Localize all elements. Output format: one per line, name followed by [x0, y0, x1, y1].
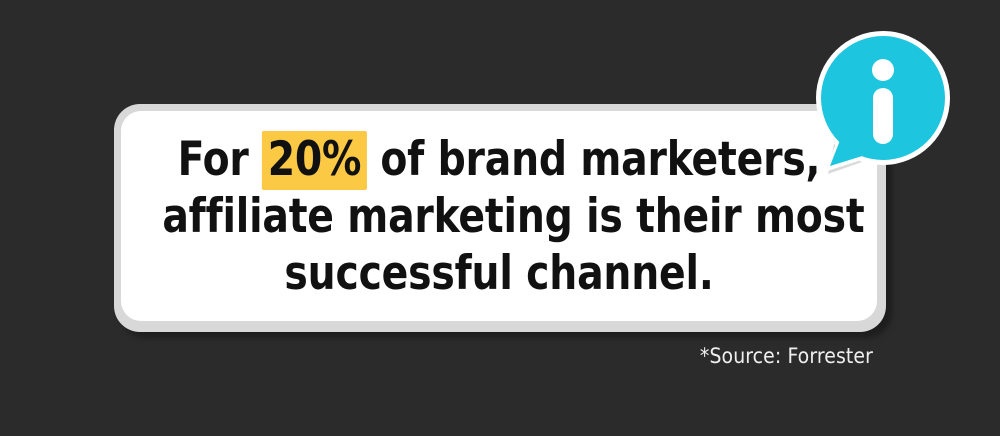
headline-text-after: of brand marketers,: [367, 132, 820, 187]
stat-card: For 20% of brand marketers, affiliate ma…: [114, 104, 886, 332]
source-caption: *Source: Forrester: [0, 344, 873, 368]
headline-line-2: affiliate marketing is their most: [162, 188, 835, 245]
card-surface: For 20% of brand marketers, affiliate ma…: [121, 111, 877, 321]
headline: For 20% of brand marketers, affiliate ma…: [147, 131, 850, 302]
headline-line-1: For 20% of brand marketers,: [162, 131, 835, 188]
stat-highlight: 20%: [262, 131, 367, 190]
headline-text-before: For: [178, 132, 262, 187]
info-stem: [873, 88, 893, 144]
infographic-canvas: For 20% of brand marketers, affiliate ma…: [0, 0, 1000, 436]
headline-line-3: successful channel.: [162, 245, 835, 302]
info-speech-bubble-icon: [812, 26, 962, 186]
info-dot: [872, 59, 894, 81]
